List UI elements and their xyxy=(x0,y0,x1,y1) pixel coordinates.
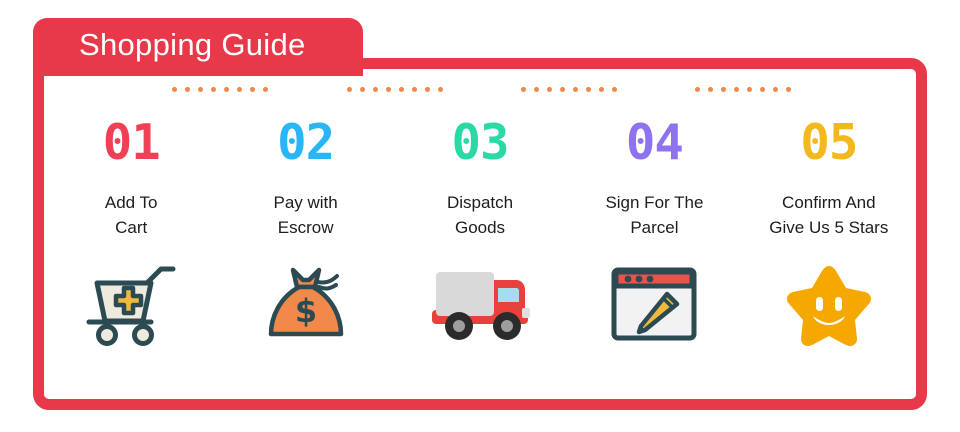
shopping-guide-banner: Shopping Guide 01 Add To Cart xyxy=(0,0,960,432)
step-item-4: 04 Sign For The Parcel xyxy=(567,69,741,399)
step-label-5-line1: Confirm And xyxy=(782,193,876,212)
step-label-5: Confirm And Give Us 5 Stars xyxy=(744,190,914,240)
page-title: Shopping Guide xyxy=(79,27,306,63)
step-label-2-line2: Escrow xyxy=(278,218,334,237)
step-label-2: Pay with Escrow xyxy=(221,190,391,240)
step-label-4-line2: Parcel xyxy=(630,218,678,237)
step-label-2-line1: Pay with xyxy=(273,193,337,212)
step-number-4: 04 xyxy=(626,116,683,168)
step-number-5: 05 xyxy=(800,116,857,168)
step-label-1-line2: Cart xyxy=(115,218,147,237)
step-item-1: 01 Add To Cart xyxy=(44,69,218,399)
step-number-3: 03 xyxy=(452,116,509,168)
step-number-2: 02 xyxy=(277,116,334,168)
step-item-2: 02 Pay with Escrow $ xyxy=(218,69,392,399)
step-label-5-line2: Give Us 5 Stars xyxy=(769,218,888,237)
step-label-4: Sign For The Parcel xyxy=(569,190,739,240)
step-label-1: Add To Cart xyxy=(46,190,216,240)
step-item-3: 03 Dispatch Goods xyxy=(393,69,567,399)
step-label-3-line1: Dispatch xyxy=(447,193,513,212)
shopping-cart-icon xyxy=(79,256,183,352)
step-label-3: Dispatch Goods xyxy=(395,190,565,240)
steps-list: 01 Add To Cart 02 Pay with xyxy=(44,69,916,399)
money-bag-icon: $ xyxy=(254,256,358,352)
svg-text:$: $ xyxy=(294,292,316,330)
delivery-truck-icon xyxy=(428,256,532,352)
browser-pencil-icon xyxy=(602,256,706,352)
step-number-1: 01 xyxy=(103,116,160,168)
smiling-star-icon xyxy=(777,256,881,352)
step-label-4-line1: Sign For The xyxy=(605,193,703,212)
step-label-1-line1: Add To xyxy=(105,193,158,212)
step-label-3-line2: Goods xyxy=(455,218,505,237)
step-item-5: 05 Confirm And Give Us 5 Stars xyxy=(742,69,916,399)
